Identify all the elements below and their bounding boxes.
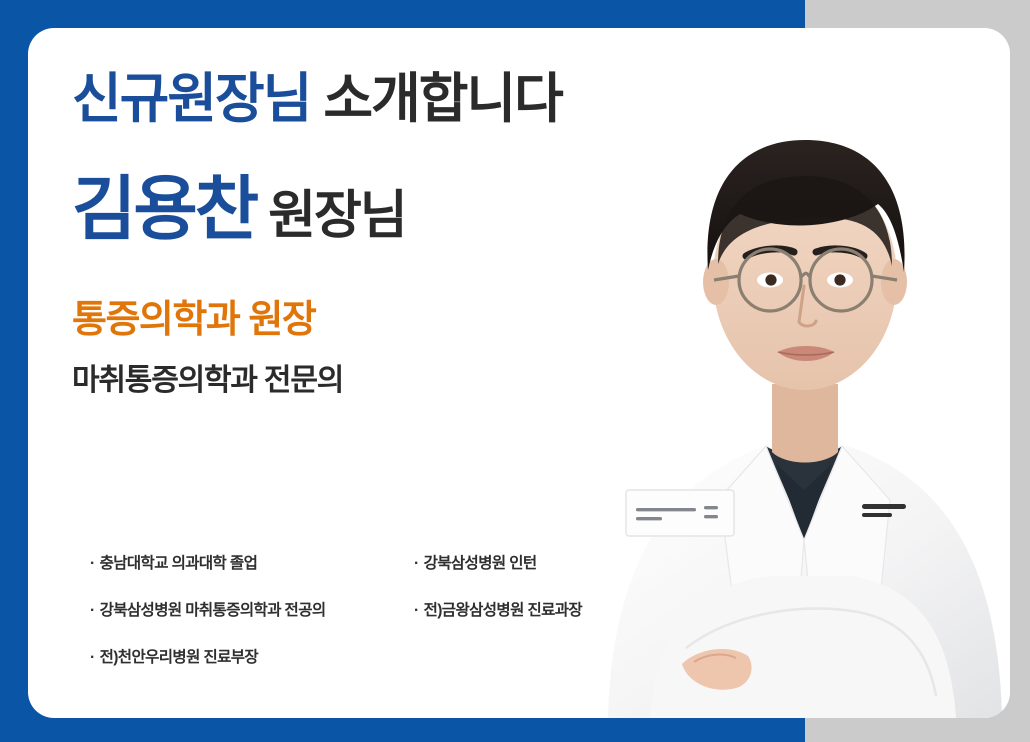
bullet-icon: · [90,650,95,666]
doctor-name: 김용찬 [72,170,256,248]
credential-item: · 강북삼성병원 마취통증의학과 전공의 [90,587,406,634]
credentials-left-column: · 충남대학교 의과대학 졸업 · 강북삼성병원 마취통증의학과 전공의 · 전… [90,540,406,681]
page-headline: 신규원장님 소개합니다 [72,68,712,132]
credential-text: 전)천안우리병원 진료부장 [100,650,259,666]
credential-text: 충남대학교 의과대학 졸업 [100,556,258,572]
content-card: 신규원장님 소개합니다 김용찬원장님 통증의학과 원장 마취통증의학과 전문의 … [28,28,1010,718]
credentials-list: · 충남대학교 의과대학 졸업 · 강북삼성병원 마취통증의학과 전공의 · 전… [90,540,690,681]
bullet-icon: · [90,556,95,572]
text-content: 신규원장님 소개합니다 김용찬원장님 통증의학과 원장 마취통증의학과 전문의 [72,68,712,399]
doctor-title-suffix: 원장님 [268,187,406,245]
bullet-icon: · [90,603,95,619]
doctor-department: 통증의학과 원장 [72,288,712,343]
credentials-right-column: · 강북삼성병원 인턴 · 전)금왕삼성병원 진료과장 [414,540,664,681]
credential-item: · 강북삼성병원 인턴 [414,540,664,587]
credential-item: · 전)금왕삼성병원 진료과장 [414,587,664,634]
credential-item: · 충남대학교 의과대학 졸업 [90,540,406,587]
credential-text: 강북삼성병원 마취통증의학과 전공의 [100,603,326,619]
headline-highlight: 신규원장님 [72,69,310,129]
credential-item: · 전)천안우리병원 진료부장 [90,634,406,681]
headline-rest: 소개합니다 [310,69,561,129]
doctor-name-line: 김용찬원장님 [72,174,712,244]
doctor-specialty: 마취통증의학과 전문의 [72,355,712,399]
bullet-icon: · [414,556,419,572]
bullet-icon: · [414,603,419,619]
credential-text: 강북삼성병원 인턴 [424,556,537,572]
banner-stage: 신규원장님 소개합니다 김용찬원장님 통증의학과 원장 마취통증의학과 전문의 … [0,0,1030,742]
credential-text: 전)금왕삼성병원 진료과장 [424,603,583,619]
